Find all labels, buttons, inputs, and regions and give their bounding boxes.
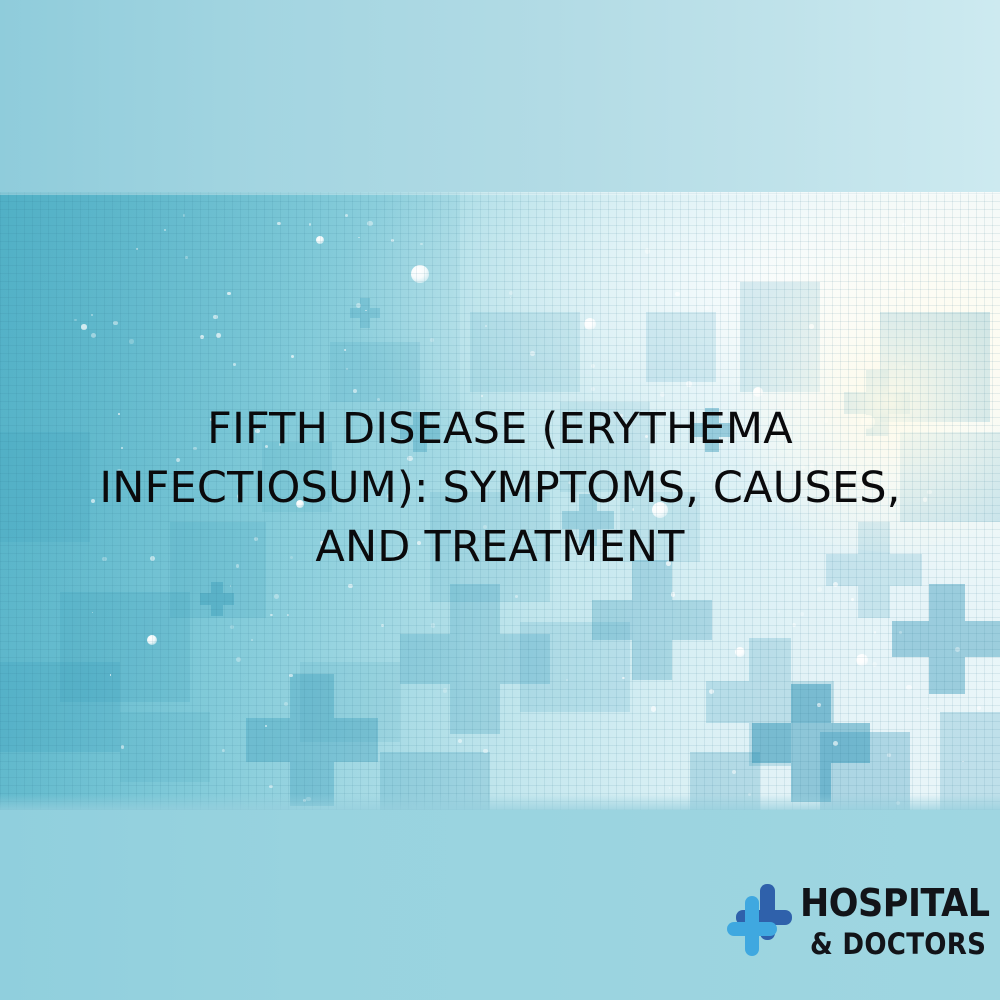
bokeh-speck <box>531 749 533 751</box>
bokeh-dot <box>147 635 157 645</box>
bokeh-speck <box>711 475 713 477</box>
bokeh-speck <box>962 761 964 763</box>
logo-line-2: & DOCTORS <box>810 930 986 959</box>
bokeh-speck <box>356 303 361 308</box>
bokeh-speck <box>129 339 134 344</box>
bokeh-speck <box>420 243 422 245</box>
bokeh-speck <box>176 458 180 462</box>
bokeh-speck <box>358 237 359 238</box>
bokeh-speck <box>870 322 875 327</box>
bokeh-speck <box>568 481 571 484</box>
bokeh-speck <box>118 413 120 415</box>
bokeh-speck <box>923 497 928 502</box>
bokeh-dots <box>0 192 1000 810</box>
bokeh-dot <box>652 502 668 518</box>
bokeh-speck <box>894 294 898 298</box>
bokeh-speck <box>855 273 857 275</box>
bokeh-speck <box>637 490 642 495</box>
bokeh-speck <box>277 222 281 226</box>
banner-canvas: FIFTH DISEASE (ERYTHEMA INFECTIOSUM): SY… <box>0 0 1000 1000</box>
bokeh-speck <box>213 315 218 320</box>
bokeh-speck <box>417 541 421 545</box>
bokeh-speck <box>836 306 839 309</box>
bokeh-speck <box>483 525 487 529</box>
bokeh-speck <box>341 499 342 500</box>
bokeh-speck <box>102 557 106 561</box>
bokeh-speck <box>381 624 384 627</box>
bokeh-speck <box>977 706 981 710</box>
bokeh-speck <box>164 229 166 231</box>
medical-cross-icon <box>722 882 794 960</box>
bokeh-speck <box>110 674 112 676</box>
bokeh-speck <box>391 239 394 242</box>
bokeh-speck <box>481 395 483 397</box>
bokeh-speck <box>509 291 513 295</box>
bokeh-speck <box>899 631 902 634</box>
bokeh-speck <box>902 365 906 369</box>
bokeh-speck <box>193 447 197 451</box>
bokeh-speck <box>233 363 236 366</box>
bokeh-speck <box>345 214 348 217</box>
bokeh-speck <box>251 639 253 641</box>
bokeh-speck <box>320 541 324 545</box>
bokeh-speck <box>113 321 117 325</box>
bokeh-dot <box>411 265 429 283</box>
bokeh-speck <box>185 256 188 259</box>
bokeh-speck <box>265 445 268 448</box>
bokeh-speck <box>851 598 855 602</box>
bokeh-speck <box>900 287 905 292</box>
bokeh-speck <box>887 753 890 756</box>
bokeh-speck <box>833 582 838 587</box>
logo-line-1: HOSPITAL <box>800 884 990 922</box>
bokeh-speck <box>150 556 155 561</box>
bokeh-speck <box>906 685 911 690</box>
bokeh-speck <box>290 556 293 559</box>
top-color-band <box>0 0 1000 192</box>
bokeh-speck <box>671 592 676 597</box>
bokeh-speck <box>792 623 796 627</box>
bokeh-speck <box>485 325 487 327</box>
bokeh-speck <box>810 463 814 467</box>
bokeh-speck <box>74 319 77 322</box>
bokeh-speck <box>901 250 905 254</box>
bokeh-speck <box>303 799 306 802</box>
bokeh-speck <box>633 533 638 538</box>
bokeh-speck <box>365 310 367 312</box>
bokeh-speck <box>817 703 822 708</box>
bokeh-speck <box>632 508 634 510</box>
bokeh-speck <box>81 324 86 329</box>
bokeh-speck <box>675 292 680 297</box>
bokeh-speck <box>306 797 310 801</box>
bokeh-speck <box>874 631 876 633</box>
bokeh-speck <box>817 587 822 592</box>
bokeh-speck <box>136 248 138 250</box>
bokeh-dot <box>735 647 745 657</box>
bokeh-speck <box>851 338 855 342</box>
bokeh-speck <box>927 708 928 709</box>
bokeh-speck <box>962 292 964 294</box>
bokeh-speck <box>274 594 279 599</box>
bokeh-dot <box>316 236 324 244</box>
bokeh-speck <box>944 350 946 352</box>
bokeh-speck <box>91 333 96 338</box>
bokeh-speck <box>660 392 665 397</box>
bokeh-speck <box>287 614 289 616</box>
bokeh-speck <box>236 564 239 567</box>
bokeh-speck <box>348 584 352 588</box>
bokeh-speck <box>362 541 364 543</box>
bokeh-speck <box>686 381 691 386</box>
bokeh-speck <box>530 351 535 356</box>
bokeh-speck <box>270 614 272 616</box>
bokeh-speck <box>344 349 346 351</box>
bokeh-speck <box>732 770 736 774</box>
bokeh-speck <box>809 324 813 328</box>
bokeh-speck <box>709 689 714 694</box>
bokeh-speck <box>430 338 434 342</box>
bokeh-speck <box>591 364 595 368</box>
bokeh-speck <box>309 223 311 225</box>
bokeh-speck <box>255 429 259 433</box>
bokeh-speck <box>704 306 708 310</box>
bokeh-speck <box>778 610 781 613</box>
bokeh-speck <box>183 214 185 216</box>
bokeh-speck <box>237 494 242 499</box>
bokeh-speck <box>353 482 356 485</box>
bokeh-speck <box>91 314 94 317</box>
bokeh-speck <box>254 537 258 541</box>
bokeh-speck <box>377 398 380 401</box>
bokeh-speck <box>927 490 931 494</box>
bokeh-speck <box>387 494 391 498</box>
bokeh-speck <box>669 787 671 789</box>
bokeh-speck <box>210 418 214 422</box>
bokeh-speck <box>826 392 830 396</box>
bokeh-speck <box>566 679 568 681</box>
bokeh-speck <box>91 499 95 503</box>
bokeh-speck <box>313 485 316 488</box>
bokeh-speck <box>645 435 648 438</box>
bokeh-speck <box>890 668 892 670</box>
bokeh-speck <box>620 414 623 417</box>
bokeh-speck <box>510 297 512 299</box>
logo-wordmark: HOSPITAL & DOCTORS <box>800 884 1000 959</box>
bokeh-dot <box>296 500 304 508</box>
bokeh-speck <box>591 387 595 391</box>
bokeh-speck <box>284 702 288 706</box>
bokeh-speck <box>230 625 234 629</box>
bokeh-speck <box>367 221 372 226</box>
bokeh-speck <box>200 335 205 340</box>
bokeh-speck <box>397 554 401 558</box>
bokeh-dot <box>856 654 868 666</box>
bokeh-speck <box>121 447 123 449</box>
bokeh-speck <box>800 612 804 616</box>
bokeh-speck <box>230 585 232 587</box>
bokeh-speck <box>92 612 93 613</box>
bokeh-speck <box>748 793 751 796</box>
bokeh-speck <box>872 662 877 667</box>
bokeh-speck <box>353 389 357 393</box>
bokeh-speck <box>289 674 293 678</box>
bokeh-speck <box>651 706 656 711</box>
bokeh-speck <box>121 745 124 748</box>
bokeh-speck <box>265 725 267 727</box>
bokeh-speck <box>824 418 828 422</box>
bokeh-speck <box>216 333 221 338</box>
bokeh-speck <box>279 443 282 446</box>
bokeh-speck <box>236 657 241 662</box>
bokeh-speck <box>269 785 272 788</box>
bokeh-speck <box>407 456 413 462</box>
bokeh-speck <box>458 739 462 743</box>
bokeh-dot <box>584 318 596 330</box>
bokeh-speck <box>801 465 805 469</box>
bokeh-speck <box>773 457 778 462</box>
bokeh-speck <box>431 623 435 627</box>
bokeh-speck <box>902 223 906 227</box>
site-logo[interactable]: HOSPITAL & DOCTORS <box>722 876 978 966</box>
bokeh-speck <box>227 292 230 295</box>
bokeh-speck <box>666 561 671 566</box>
bokeh-speck <box>833 741 838 746</box>
bokeh-speck <box>955 647 960 652</box>
bokeh-speck <box>346 368 349 371</box>
bokeh-speck <box>291 355 294 358</box>
bokeh-speck <box>483 749 488 754</box>
bokeh-speck <box>841 500 844 503</box>
bokeh-speck <box>613 498 615 500</box>
bokeh-speck <box>760 488 762 490</box>
bokeh-speck <box>515 595 518 598</box>
bokeh-speck <box>117 469 122 474</box>
bokeh-speck <box>443 688 448 693</box>
bokeh-speck <box>896 801 900 805</box>
cross-light-horizontal <box>727 922 777 936</box>
bokeh-speck <box>645 248 650 253</box>
bokeh-speck <box>622 677 625 680</box>
hero-background-image <box>0 192 1000 810</box>
bokeh-dot <box>753 387 763 397</box>
bokeh-speck <box>222 749 225 752</box>
bokeh-dot <box>861 415 875 429</box>
